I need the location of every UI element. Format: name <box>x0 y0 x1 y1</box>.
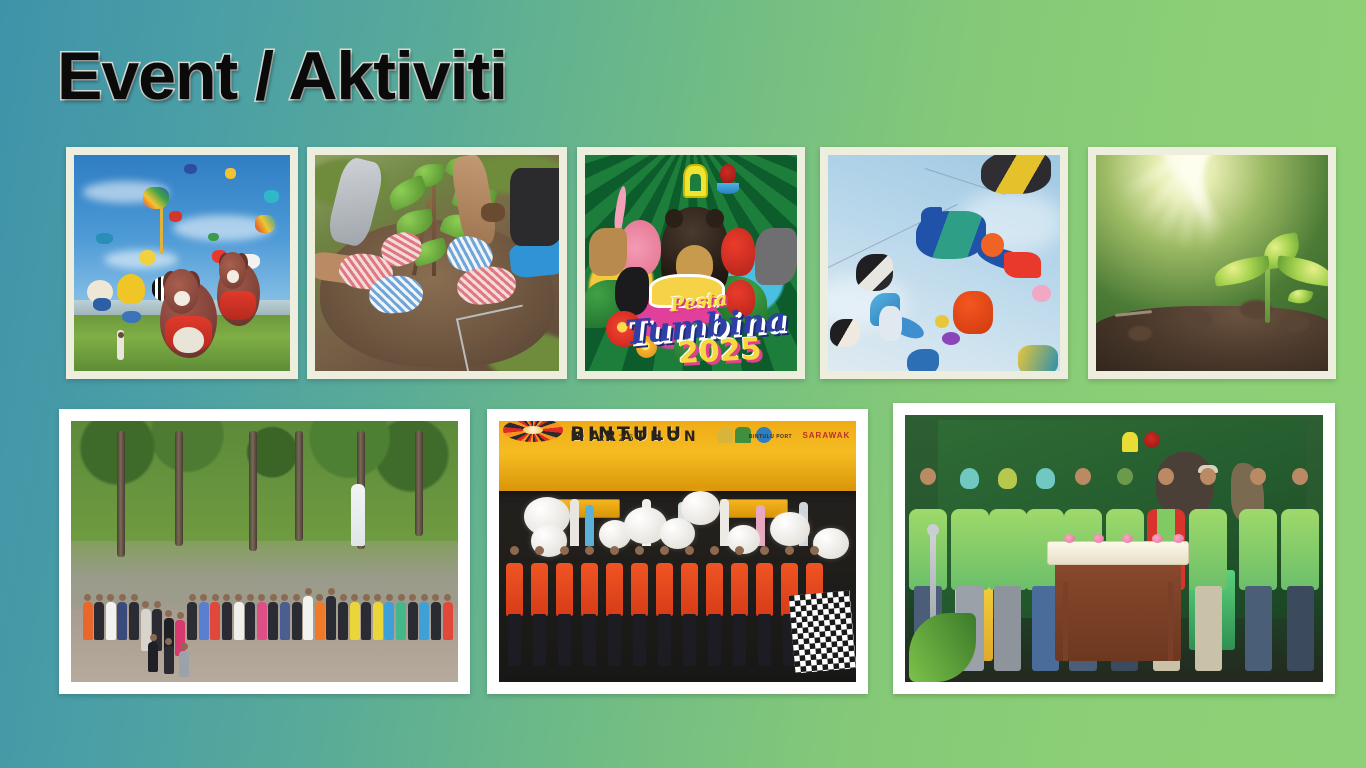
kite-festival-photo <box>74 155 290 371</box>
sponsor-sarawak-label: SARAWAK <box>802 431 850 440</box>
macaw-graphic <box>721 228 755 276</box>
cow-kite <box>856 254 893 291</box>
sarawak-emblem-icon <box>683 164 708 199</box>
photo-frame-kite-festival[interactable] <box>66 147 298 379</box>
seedling-photo <box>1096 155 1328 371</box>
photo-frame-cake-cutting[interactable] <box>893 403 1335 694</box>
forestry-emblem-icon <box>716 164 739 196</box>
marathon-sunburst-logo-icon <box>503 421 564 442</box>
tree-planting-photo <box>315 155 559 371</box>
photo-frame-seedling[interactable] <box>1088 147 1336 379</box>
photo-frame-sky-kites[interactable] <box>820 147 1068 379</box>
backdrop-shield-icon <box>1122 432 1138 452</box>
photo-frame-pesta-tumbina[interactable]: Pesta Tumbina 2025 <box>577 147 805 379</box>
photo-frame-park-crowd[interactable] <box>59 409 470 694</box>
bintulu-marathon-photo: BINTULU MARATHON 2025 BINTULU PORT SARAW… <box>499 421 856 682</box>
sponsor-bintulu-port-label: BINTULU PORT <box>749 434 792 440</box>
sarawak-crest-icon <box>717 427 733 443</box>
photo-frame-tree-planting[interactable] <box>307 147 567 379</box>
cake-cutting-ceremony-photo <box>905 415 1323 682</box>
poster-title-line3: 2025 <box>677 332 762 371</box>
checkered-flag <box>788 591 855 674</box>
ceremonial-cake <box>1047 541 1189 565</box>
page-title: Event / Aktiviti <box>57 37 507 115</box>
park-group-photo <box>71 421 458 682</box>
backdrop-globe-icon <box>1144 432 1160 448</box>
pesta-tumbina-poster: Pesta Tumbina 2025 <box>585 155 797 371</box>
photo-frame-bintulu-marathon[interactable]: BINTULU MARATHON 2025 BINTULU PORT SARAW… <box>487 409 868 694</box>
dinosaur-kite <box>953 291 992 334</box>
marathon-banner-year: 2025 <box>599 434 638 444</box>
inflatable-kites-photo <box>828 155 1060 371</box>
